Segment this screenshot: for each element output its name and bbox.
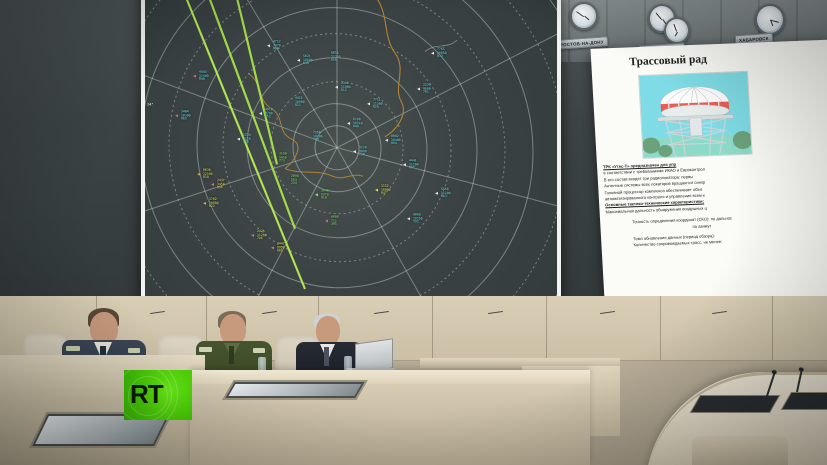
presentation-slide[interactable]: Трассовый рад: [590, 40, 827, 321]
cabinet-seam: [546, 296, 547, 360]
track-symbol: [435, 192, 438, 195]
cabinet-seam: [432, 296, 433, 360]
shoulder-board: [199, 347, 212, 352]
radar-bearing-marker: 24°: [147, 103, 154, 107]
presidium-monitor-inset[interactable]: [222, 380, 368, 400]
track-symbol: [353, 150, 356, 153]
track-symbol: [211, 183, 214, 186]
track-symbol: [431, 52, 434, 55]
track-label: 47123470880: [273, 40, 281, 51]
cabinet-seam: [660, 296, 661, 360]
track-label: 24479950805: [277, 242, 285, 253]
wall-clock-yekaterinburg: [664, 17, 690, 44]
track-symbol: [347, 122, 350, 125]
track-label: 063612190810: [203, 169, 213, 180]
slide-body-text: ТРК «Утес-Т» предназначен для упр в соот…: [603, 156, 827, 251]
rt-logo-watermark: RT: [124, 370, 192, 420]
rt-logo-text: RT: [130, 381, 163, 407]
track-label: 444111200867: [409, 159, 419, 170]
track-label: 908010250792: [413, 213, 423, 224]
track-symbol: [259, 112, 262, 115]
track-symbol: [197, 173, 200, 176]
track-symbol: [267, 44, 270, 47]
radar-screen-surface[interactable]: 24° 444311440840 348410300862 0636121908…: [145, 0, 557, 305]
track-label: 348410300862: [181, 110, 191, 121]
wall-clock-khabarovsk: [755, 4, 785, 35]
track-label: 776510850833: [437, 48, 447, 59]
track-label: 880210400804: [391, 135, 401, 146]
track-symbol: [407, 217, 410, 220]
track-symbol: [325, 219, 328, 222]
tie: [229, 346, 234, 364]
track-symbol: [175, 114, 178, 117]
radar-ppi-plot: 24° 444311440840 348410300862 0636121908…: [145, 0, 557, 305]
track-label: 771111300826: [373, 98, 383, 109]
cabinet-seam: [772, 296, 773, 360]
wall-clock-saint-petersburg: [570, 2, 598, 30]
track-label: 115210000847: [381, 185, 391, 196]
radar-tower-photo: [638, 71, 753, 159]
track-label: 444311440840: [199, 71, 209, 82]
track-symbol: [203, 202, 206, 205]
table-pedestal: [692, 436, 788, 465]
track-cluster: 441110900821: [295, 97, 305, 108]
track-symbol: [375, 189, 378, 192]
track-label: 30409970818: [321, 189, 329, 200]
monitor-glass: [35, 416, 167, 444]
track-label: 331411900812: [341, 82, 351, 93]
head: [316, 316, 340, 345]
track-label: 556611100863: [441, 188, 451, 199]
track-label: 2890564244: [291, 175, 299, 186]
track-symbol: [315, 193, 318, 196]
track-symbol: [297, 59, 300, 62]
track-label: 6008711305: [331, 216, 339, 227]
table-monitor-inset[interactable]: [690, 395, 780, 413]
track-symbol: [417, 87, 420, 90]
track-symbol: [335, 86, 338, 89]
shoulder-board: [253, 348, 265, 353]
track-symbol: [237, 138, 240, 141]
tie: [324, 347, 329, 366]
track-symbol: [251, 234, 254, 237]
track-label: 40108700752: [265, 108, 273, 119]
track-label: 178210080822: [209, 198, 219, 209]
track-cluster: 601511250856: [331, 52, 341, 63]
shoulder-board: [128, 348, 140, 353]
radar-display-screen[interactable]: 24° 444311440840 348410300862 0636121908…: [141, 0, 561, 311]
monitor-glass: [229, 384, 362, 396]
track-symbol: [193, 75, 196, 78]
track-label: 12349120770: [243, 134, 251, 145]
track-label: 22339600781: [423, 84, 431, 95]
track-symbol: [271, 246, 274, 249]
track-label: 618010210849: [353, 118, 363, 129]
slide-title: Трассовый рад: [629, 53, 707, 68]
briefing-room-screenshot: ОПЕРАТИВНОЕ САНКТ-ПЕТЕРБУРГ РОСТОВ-НА-ДО…: [0, 0, 827, 465]
track-label: 11209800790: [359, 146, 367, 157]
track-label: 502110600838: [303, 55, 313, 66]
track-label: 24373450896: [217, 179, 225, 190]
track-symbol: [367, 102, 370, 105]
track-cluster: 31909450773: [279, 152, 287, 163]
track-cluster: 726010300798: [313, 131, 323, 142]
track-symbol: [403, 163, 406, 166]
track-symbol: [385, 139, 388, 142]
shoulder-board: [66, 346, 80, 351]
radar-vector-layer: [145, 0, 557, 305]
track-label: 242611260796: [257, 230, 267, 241]
